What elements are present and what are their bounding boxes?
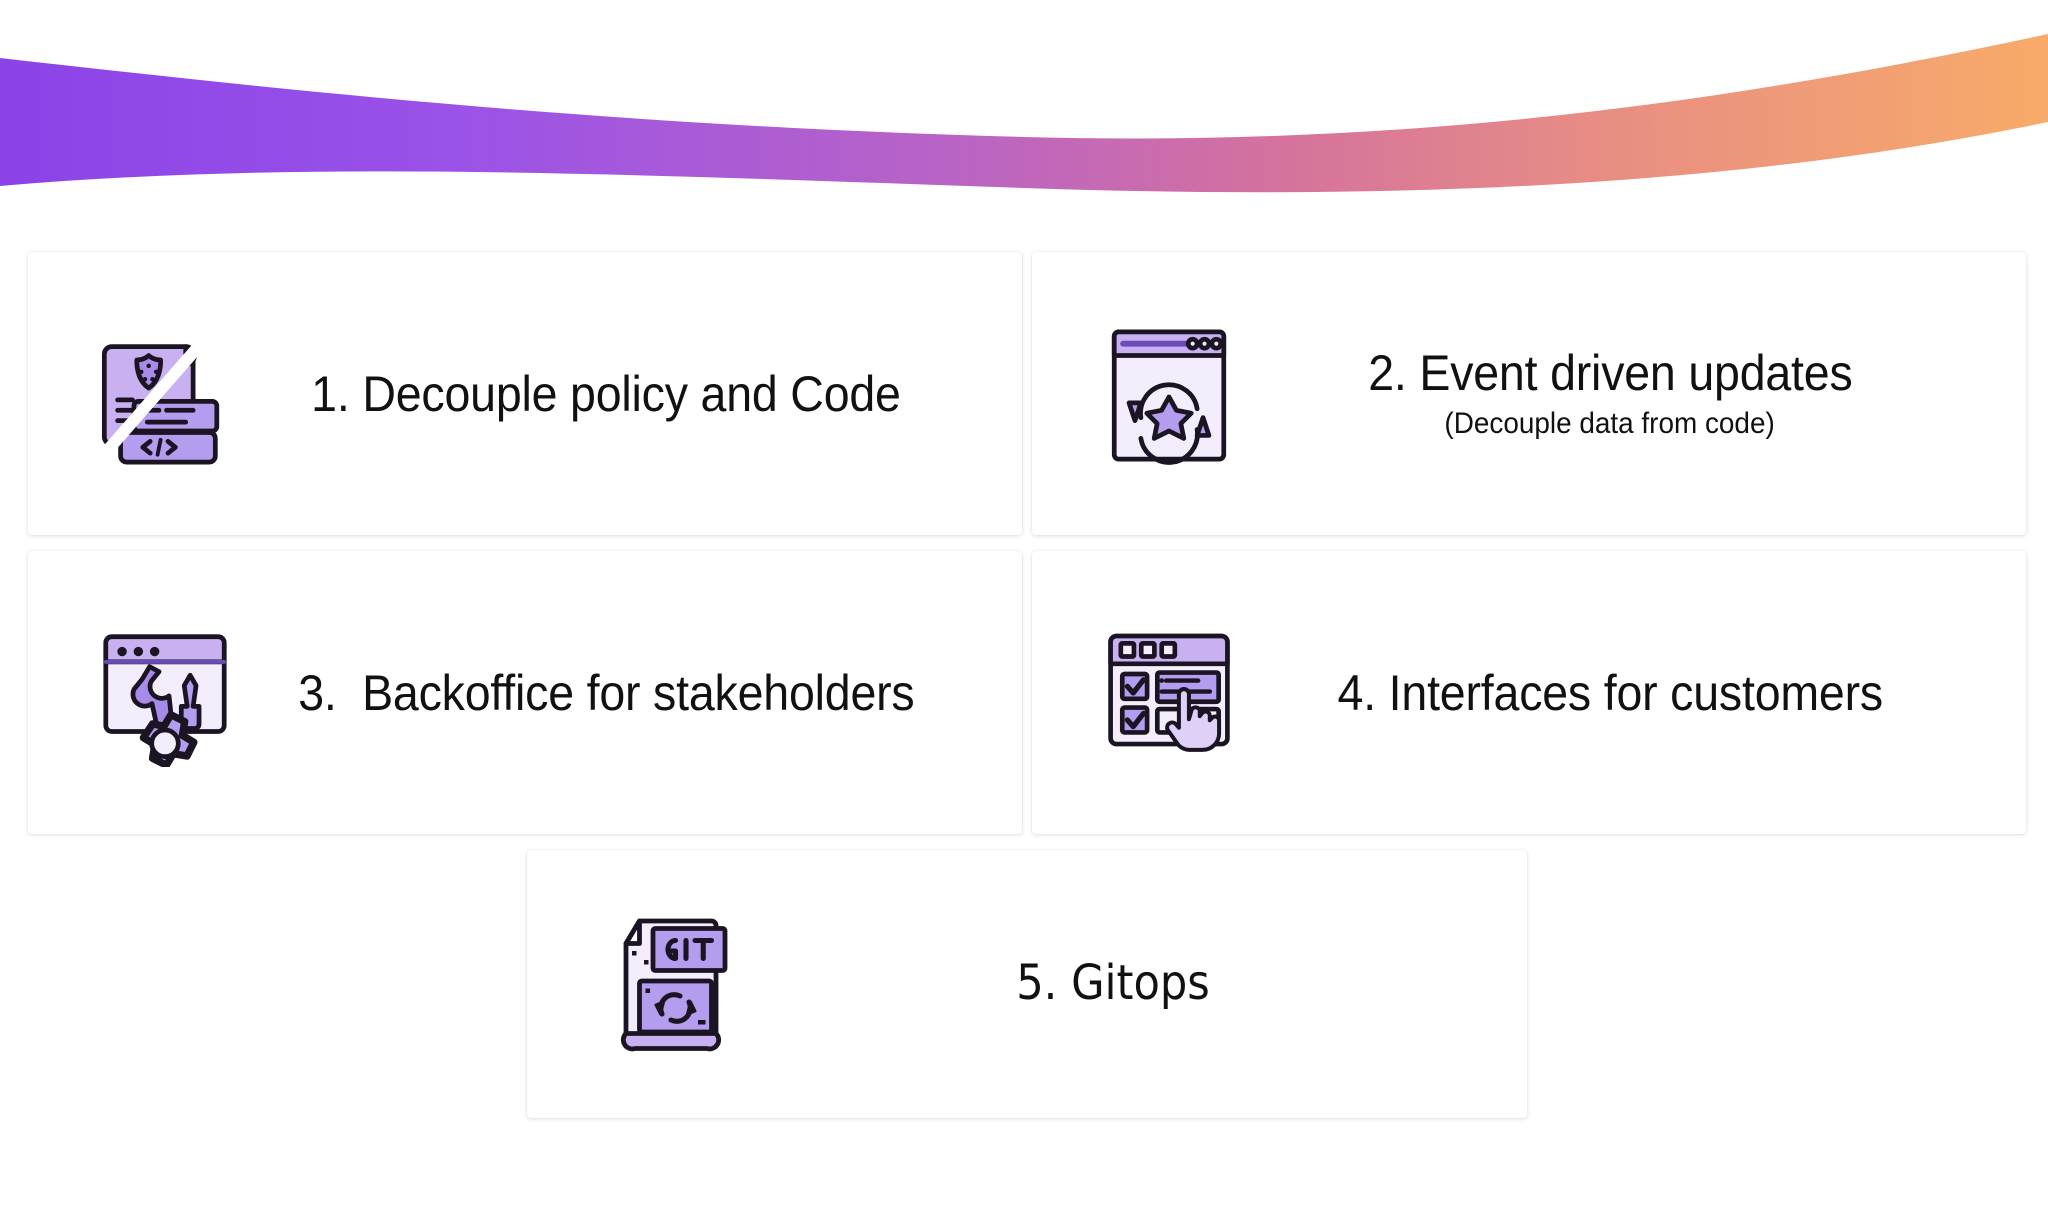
card-title: 4. Interfaces for customers — [1337, 666, 1882, 720]
git-document-sync-icon — [599, 909, 749, 1059]
card-text-block: 1. Decouple policy and Code — [240, 367, 996, 421]
card-text-block: 5. Gitops — [749, 958, 1501, 1010]
browser-refresh-star-icon — [1094, 319, 1244, 469]
card-event-driven-updates[interactable]: 2. Event driven updates (Decouple data f… — [1032, 252, 2026, 535]
card-row-2: 3. Backoffice for stakeholders — [28, 551, 2026, 834]
card-title: 1. Decouple policy and Code — [311, 367, 901, 421]
card-title: 3. Backoffice for stakeholders — [298, 666, 914, 720]
card-text-block: 3. Backoffice for stakeholders — [240, 666, 996, 720]
card-text-block: 4. Interfaces for customers — [1244, 666, 2000, 720]
card-backoffice-for-stakeholders[interactable]: 3. Backoffice for stakeholders — [28, 551, 1022, 834]
card-interfaces-for-customers[interactable]: 4. Interfaces for customers — [1032, 551, 2026, 834]
card-subtitle: (Decouple data from code) — [1445, 406, 1775, 442]
browser-tools-gear-icon — [90, 618, 240, 768]
card-title: 5. Gitops — [1016, 958, 1210, 1010]
card-text-block: 2. Event driven updates (Decouple data f… — [1244, 346, 2000, 442]
card-row-3: 5. Gitops — [28, 850, 2026, 1118]
card-row-1: 1. Decouple policy and Code — [28, 252, 2026, 535]
card-gitops[interactable]: 5. Gitops — [527, 850, 1527, 1118]
card-title: 2. Event driven updates — [1368, 346, 1852, 400]
card-decouple-policy-and-code[interactable]: 1. Decouple policy and Code — [28, 252, 1022, 535]
card-grid: 1. Decouple policy and Code — [28, 252, 2026, 1118]
policy-document-code-icon — [90, 319, 240, 469]
slide-canvas: 1. Decouple policy and Code — [0, 0, 2048, 1225]
wave-banner — [0, 0, 2048, 210]
browser-checklist-cursor-icon — [1094, 618, 1244, 768]
